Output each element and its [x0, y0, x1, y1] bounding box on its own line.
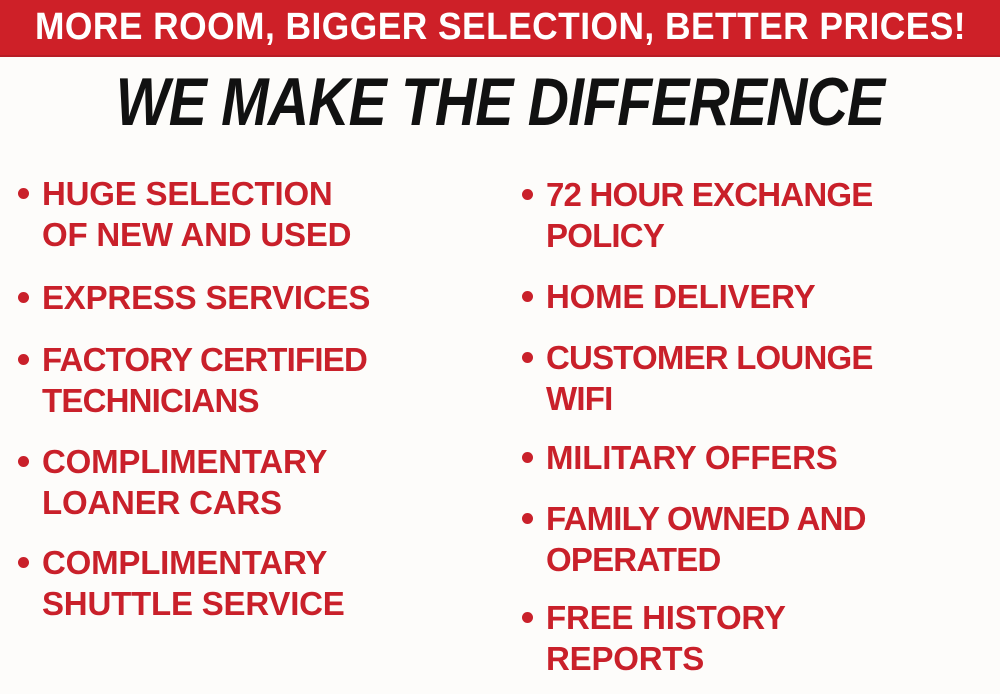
benefits-columns: HUGE SELECTION OF NEW AND USED EXPRESS S…	[0, 160, 1000, 694]
list-item: HUGE SELECTION OF NEW AND USED	[18, 173, 494, 255]
bullet-dot-icon	[522, 291, 533, 302]
list-item-label: 72 HOUR EXCHANGE POLICY	[546, 174, 872, 256]
bullet-dot-icon	[522, 452, 533, 463]
banner-headline-text: MORE ROOM, BIGGER SELECTION, BETTER PRIC…	[35, 0, 965, 55]
list-item: COMPLIMENTARY LOANER CARS	[18, 441, 494, 523]
top-banner: MORE ROOM, BIGGER SELECTION, BETTER PRIC…	[0, 0, 1000, 57]
bullet-dot-icon	[522, 352, 533, 363]
list-item-label: FAMILY OWNED AND OPERATED	[546, 498, 866, 580]
list-item-label: COMPLIMENTARY LOANER CARS	[42, 441, 327, 523]
bullet-dot-icon	[18, 354, 29, 365]
list-item-label: HUGE SELECTION OF NEW AND USED	[42, 173, 351, 255]
bullet-dot-icon	[522, 189, 533, 200]
list-item-label: MILITARY OFFERS	[546, 437, 838, 478]
list-item: EXPRESS SERVICES	[18, 277, 494, 318]
list-item-label: FREE HISTORY REPORTS	[546, 597, 786, 679]
list-item: FACTORY CERTIFIED TECHNICIANS	[18, 339, 494, 421]
bullet-dot-icon	[522, 513, 533, 524]
list-item-label: COMPLIMENTARY SHUTTLE SERVICE	[42, 542, 345, 624]
bullet-dot-icon	[18, 557, 29, 568]
list-item: FREE HISTORY REPORTS	[522, 597, 996, 679]
page-title: WE MAKE THE DIFFERENCE	[80, 66, 920, 138]
list-item: CUSTOMER LOUNGE WIFI	[522, 337, 996, 419]
benefits-column-left: HUGE SELECTION OF NEW AND USED EXPRESS S…	[0, 160, 500, 694]
list-item-label: FACTORY CERTIFIED TECHNICIANS	[42, 339, 367, 421]
bullet-dot-icon	[18, 188, 29, 199]
list-item-label: HOME DELIVERY	[546, 276, 815, 317]
bullet-dot-icon	[18, 292, 29, 303]
promotional-poster: MORE ROOM, BIGGER SELECTION, BETTER PRIC…	[0, 0, 1000, 694]
list-item-label: CUSTOMER LOUNGE WIFI	[546, 337, 873, 419]
list-item: HOME DELIVERY	[522, 276, 996, 317]
list-item: MILITARY OFFERS	[522, 437, 996, 478]
bullet-dot-icon	[522, 612, 533, 623]
list-item: 72 HOUR EXCHANGE POLICY	[522, 174, 996, 256]
list-item-label: EXPRESS SERVICES	[42, 277, 370, 318]
bullet-dot-icon	[18, 456, 29, 467]
list-item: FAMILY OWNED AND OPERATED	[522, 498, 996, 580]
benefits-column-right: 72 HOUR EXCHANGE POLICY HOME DELIVERY CU…	[500, 160, 1000, 694]
list-item: COMPLIMENTARY SHUTTLE SERVICE	[18, 542, 494, 624]
